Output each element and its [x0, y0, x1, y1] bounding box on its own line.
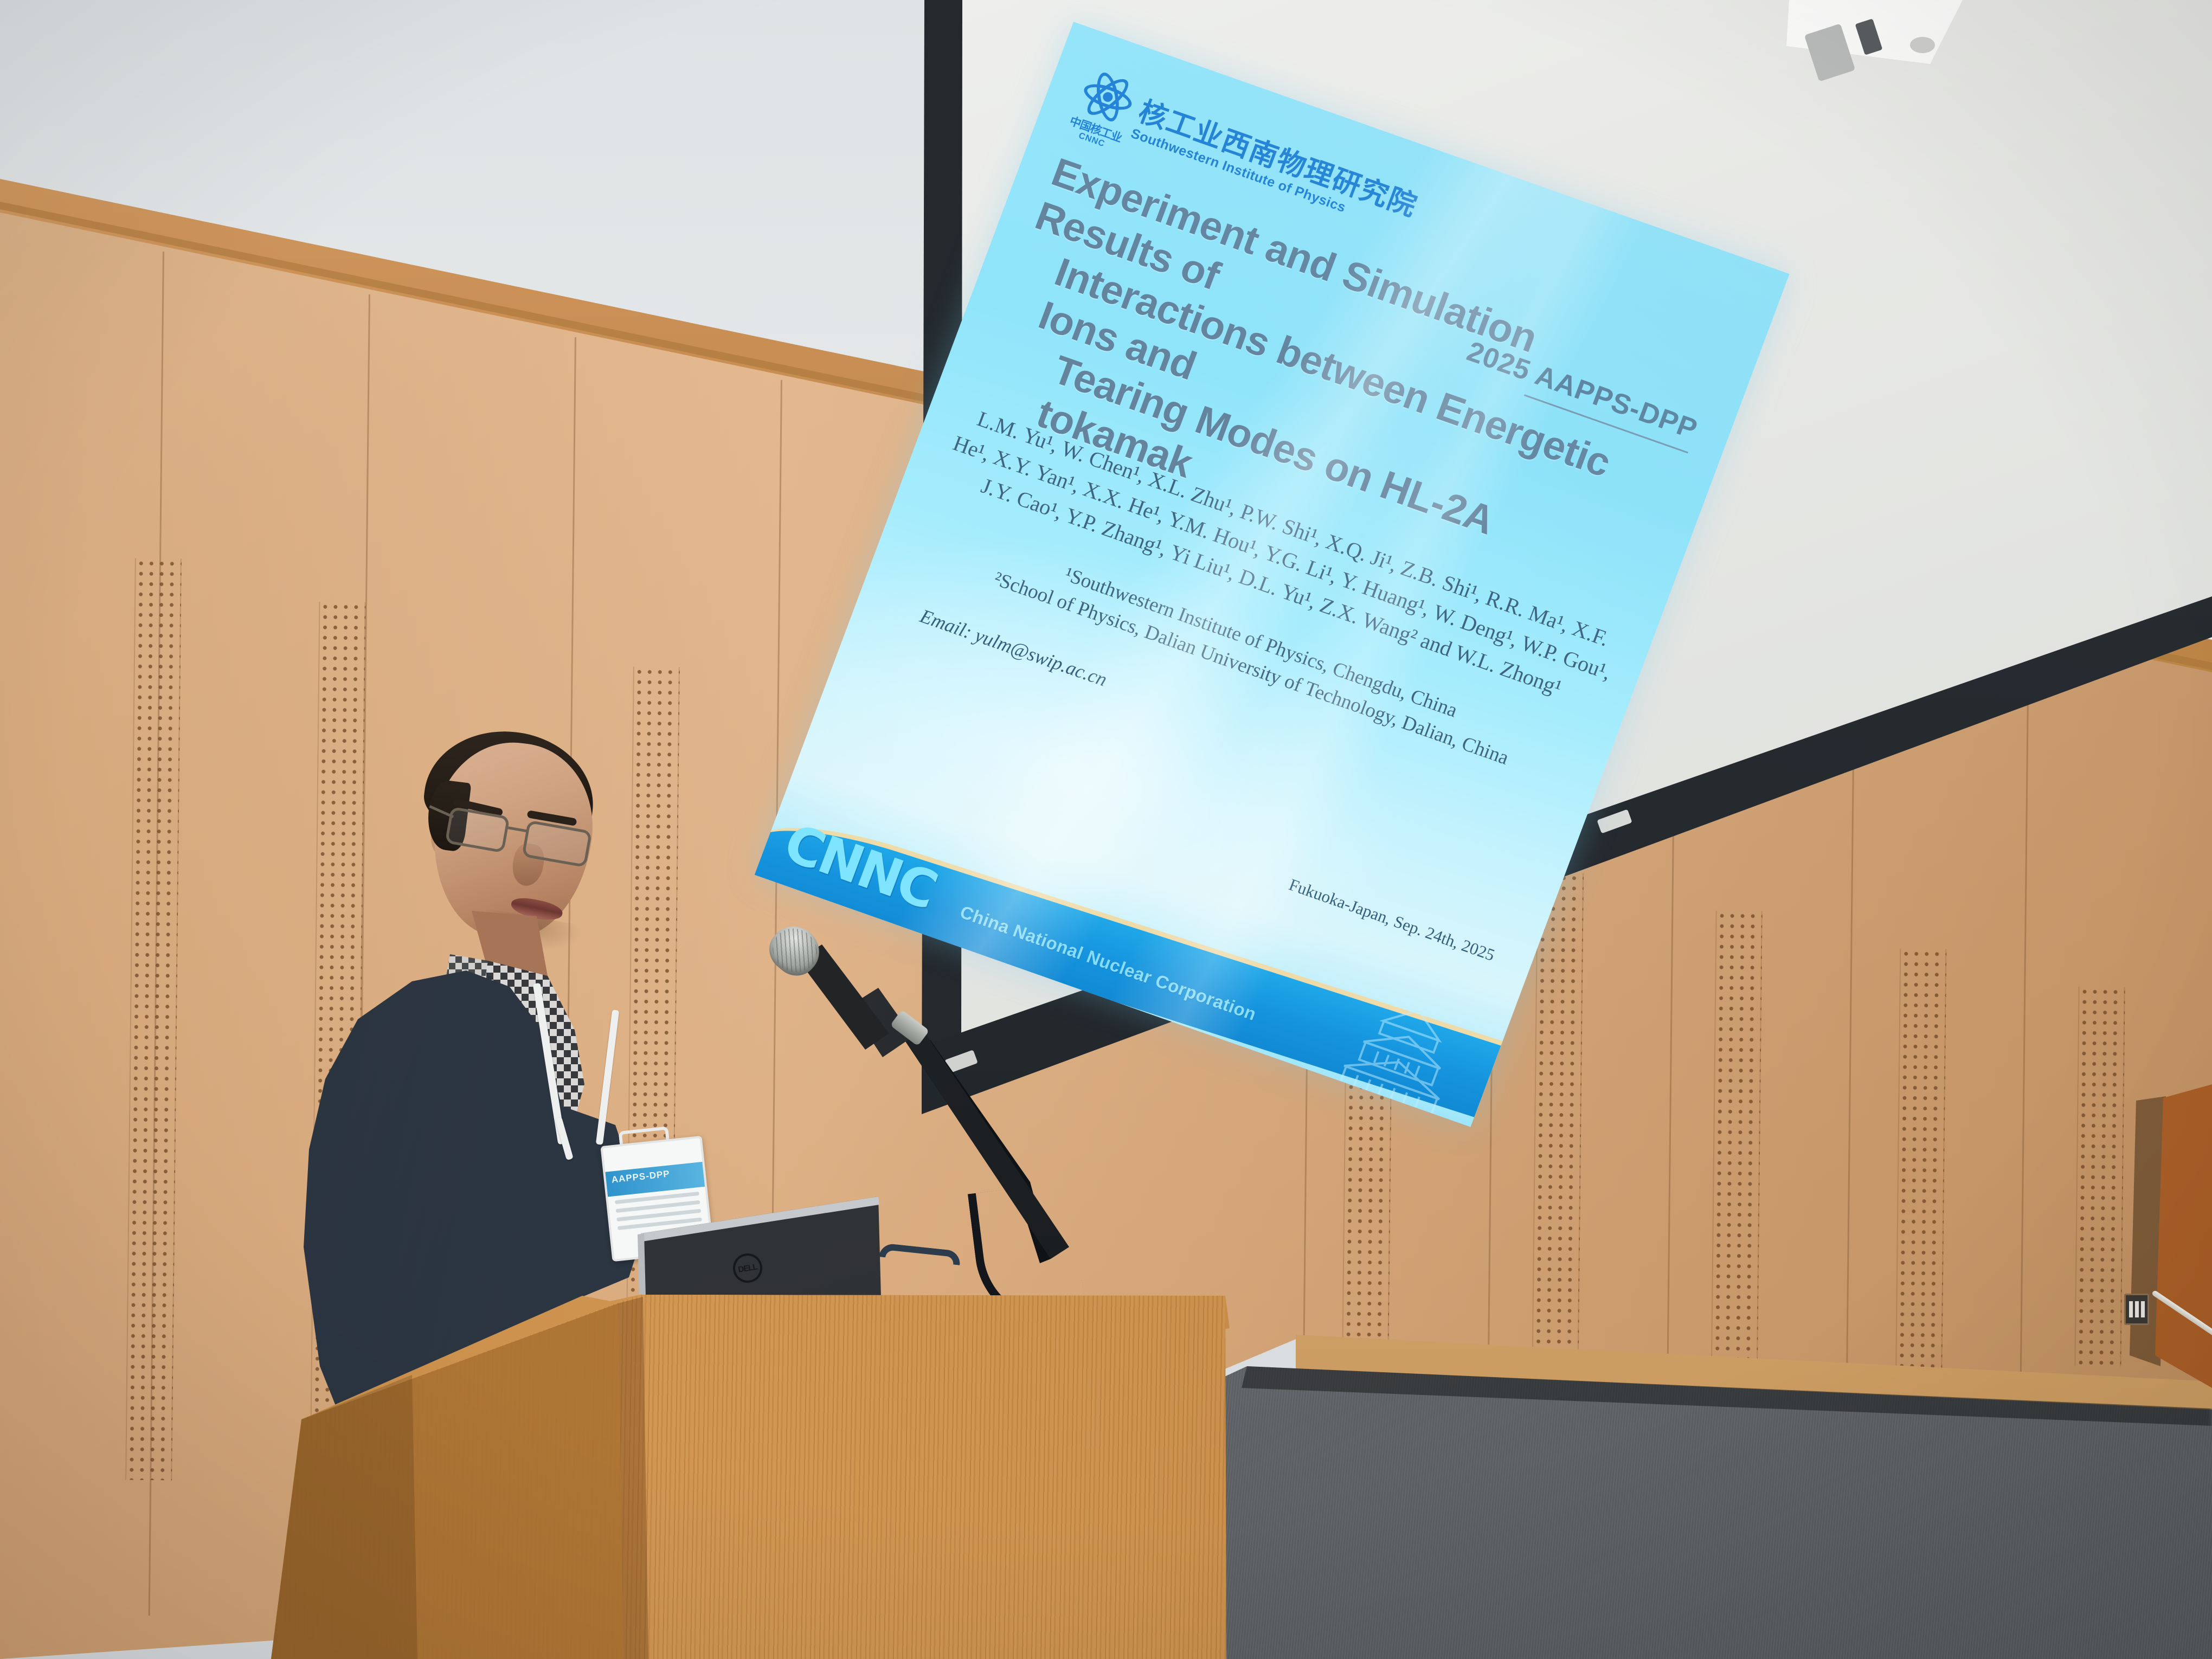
photo-scene: 中国核工业 CNNC 核工业西南物理研究院 Southwestern Insti… — [0, 0, 2212, 1659]
lanyard-strap-right — [596, 1009, 619, 1145]
